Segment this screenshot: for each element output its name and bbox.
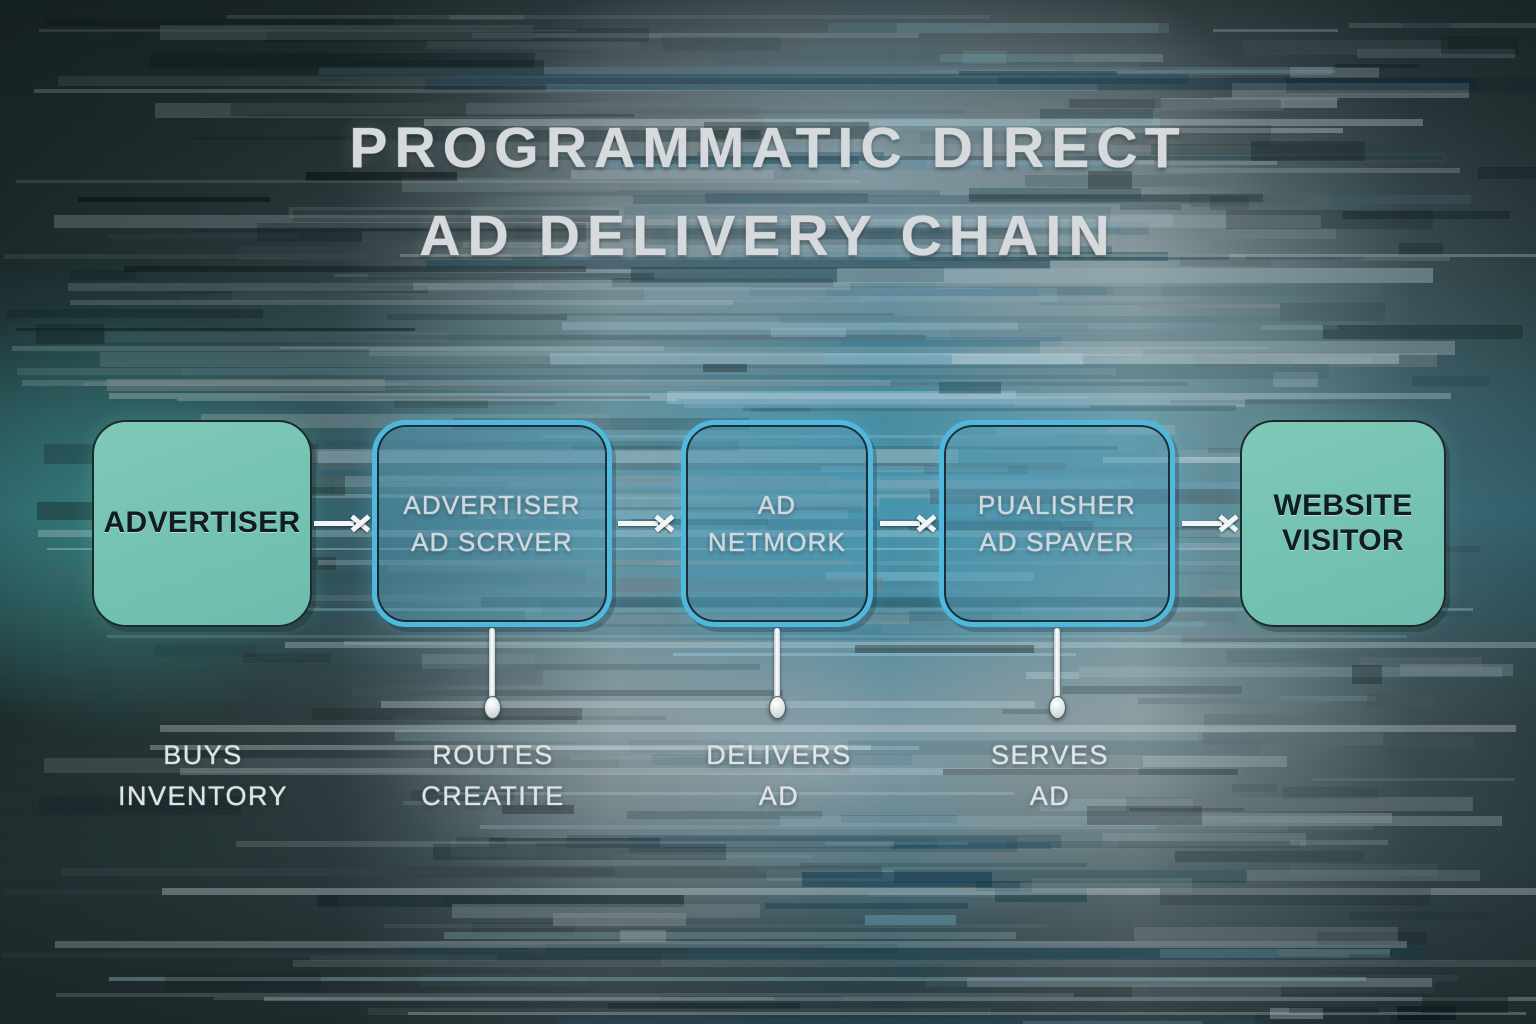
arrow-ad-server-to-network: [618, 506, 674, 540]
node-advertiser-shell: ADVERTISER: [92, 420, 312, 627]
pin-stem-icon: [774, 628, 780, 706]
arrow-shaft-icon: [880, 521, 920, 526]
node-advertiser-ad-server-label: ADVERTISER AD SCRVER: [403, 487, 580, 561]
arrow-shaft-icon: [618, 521, 658, 526]
caption-delivers-ad: DELIVERS AD: [648, 735, 910, 817]
node-website-visitor-shell: WEBSITE VISITOR: [1240, 420, 1446, 627]
node-publisher-ad-server-shell: PUALISHER AD SPAVER: [939, 420, 1175, 627]
node-advertiser-label: ADVERTISER: [104, 506, 301, 541]
pin-dot-icon: [769, 696, 786, 719]
arrow-shaft-icon: [314, 521, 354, 526]
node-advertiser-ad-server[interactable]: ADVERTISER AD SCRVER: [372, 420, 612, 627]
node-advertiser[interactable]: ADVERTISER: [92, 420, 312, 627]
arrow-shaft-icon: [1182, 521, 1222, 526]
node-publisher-ad-server[interactable]: PUALISHER AD SPAVER: [939, 420, 1175, 627]
arrow-head-icon: [918, 510, 936, 536]
caption-buys-inventory: BUYS INVENTORY: [72, 735, 334, 817]
caption-serves-ad: SERVES AD: [925, 735, 1175, 817]
pin-dot-icon: [484, 696, 501, 719]
flow-chain: ADVERTISER ADVERTISER AD SCRVER AD NETMO…: [0, 420, 1536, 630]
pin-stem-icon: [1054, 628, 1060, 706]
arrow-network-to-publisher: [880, 506, 936, 540]
arrow-publisher-to-visitor: [1182, 506, 1238, 540]
node-ad-network-label: AD NETMORK: [708, 487, 846, 561]
arrow-head-icon: [352, 510, 370, 536]
arrow-advertiser-to-ad-server: [314, 506, 370, 540]
node-advertiser-ad-server-shell: ADVERTISER AD SCRVER: [372, 420, 612, 627]
arrow-head-icon: [1220, 510, 1238, 536]
caption-routes-creative: ROUTES CREATITE: [362, 735, 624, 817]
arrow-head-icon: [656, 510, 674, 536]
node-ad-network[interactable]: AD NETMORK: [681, 420, 873, 627]
diagram-canvas: PROGRAMMATIC DIRECT AD DELIVERY CHAIN AD…: [0, 0, 1536, 1024]
pin-stem-icon: [489, 628, 495, 706]
node-website-visitor-label: WEBSITE VISITOR: [1242, 489, 1444, 559]
node-website-visitor[interactable]: WEBSITE VISITOR: [1240, 420, 1446, 627]
pin-dot-icon: [1049, 696, 1066, 719]
page-title: PROGRAMMATIC DIRECT AD DELIVERY CHAIN: [0, 104, 1536, 281]
node-ad-network-shell: AD NETMORK: [681, 420, 873, 627]
node-publisher-ad-server-label: PUALISHER AD SPAVER: [978, 487, 1136, 561]
